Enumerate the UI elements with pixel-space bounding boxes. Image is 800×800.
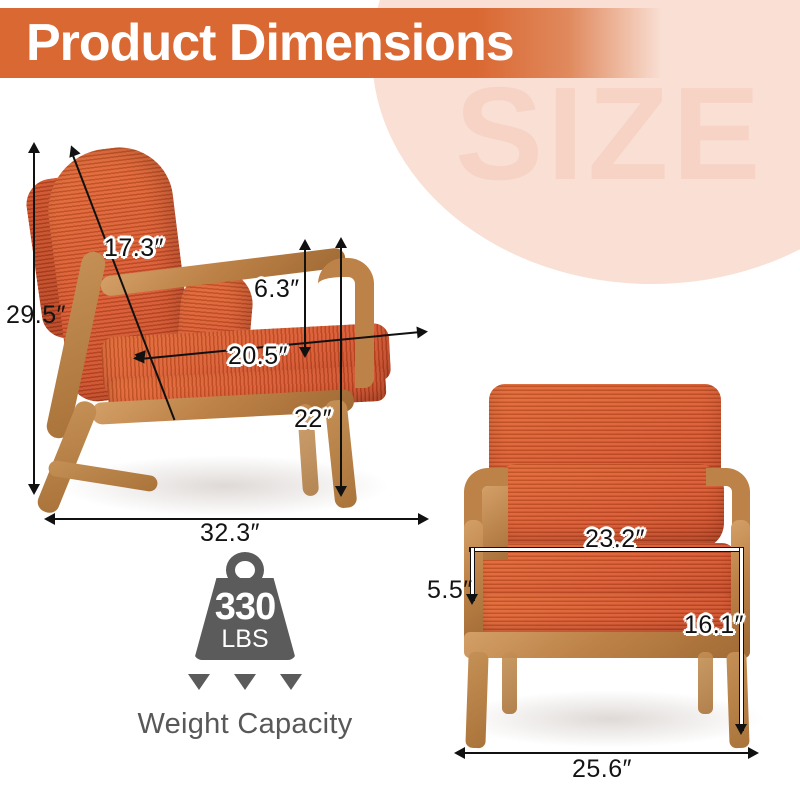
measure-line-seat-height: [740, 548, 743, 730]
arrow-overall-height-bottom: [28, 484, 40, 495]
arrow-seat-depth-right: [416, 326, 428, 339]
arrow-arm-height-bottom: [335, 486, 347, 497]
front-view-rear-right-leg: [698, 652, 713, 714]
dim-label-backrest-height: 17.3″: [104, 236, 164, 261]
arrow-overall-depth-left: [44, 513, 55, 525]
dim-label-overall-depth: 32.3″: [200, 521, 260, 546]
header-banner: Product Dimensions: [0, 8, 662, 78]
arrow-overall-depth-right: [418, 513, 429, 525]
size-watermark-text: SIZE: [455, 68, 764, 200]
dim-label-seat-height: 16.1″: [684, 613, 744, 638]
page-title: Product Dimensions: [26, 17, 514, 69]
dim-label-seat-depth: 20.5″: [228, 344, 288, 369]
down-triangle-icon: [280, 674, 302, 690]
dim-label-arm-clearance: 6.3″: [254, 277, 300, 302]
arrow-seat-height-bottom: [735, 724, 747, 735]
arrow-overall-width-right: [748, 747, 759, 759]
arrow-overall-height-top: [28, 142, 40, 153]
weight-capacity-block: 330 LBS Weight Capacity: [120, 552, 370, 741]
arrow-overall-width-left: [454, 747, 465, 759]
front-view-front-left-leg: [465, 652, 488, 749]
weight-capacity-unit: LBS: [180, 627, 310, 652]
weight-capacity-label: Weight Capacity: [120, 708, 370, 741]
dim-label-cushion-height: 5.5″: [427, 578, 473, 603]
dim-label-arm-height: 22″: [294, 407, 332, 432]
measure-line-arm-clearance: [304, 247, 306, 349]
weight-capacity-value: 330: [180, 588, 310, 626]
arrow-arm-clearance-top: [299, 239, 311, 250]
weight-arrow-row: [180, 674, 310, 690]
infographic-canvas: SIZE Product Dimensions: [0, 0, 800, 800]
measure-line-overall-width: [462, 752, 750, 754]
down-triangle-icon: [188, 674, 210, 690]
down-triangle-icon: [234, 674, 256, 690]
dim-label-overall-height: 29.5″: [6, 303, 66, 328]
arrow-arm-clearance-bottom: [299, 347, 311, 358]
dim-label-overall-width: 25.6″: [572, 757, 632, 782]
side-view-arm-front-curve: [318, 258, 374, 388]
arrow-arm-height-top: [335, 237, 347, 248]
front-view-rear-left-leg: [502, 652, 517, 714]
dim-label-seat-width: 23.2″: [585, 527, 645, 552]
weight-icon: 330 LBS: [180, 552, 310, 670]
arrow-seat-depth-left: [132, 352, 144, 365]
arrow-backrest-top: [65, 143, 80, 158]
measure-line-arm-height: [340, 245, 342, 488]
